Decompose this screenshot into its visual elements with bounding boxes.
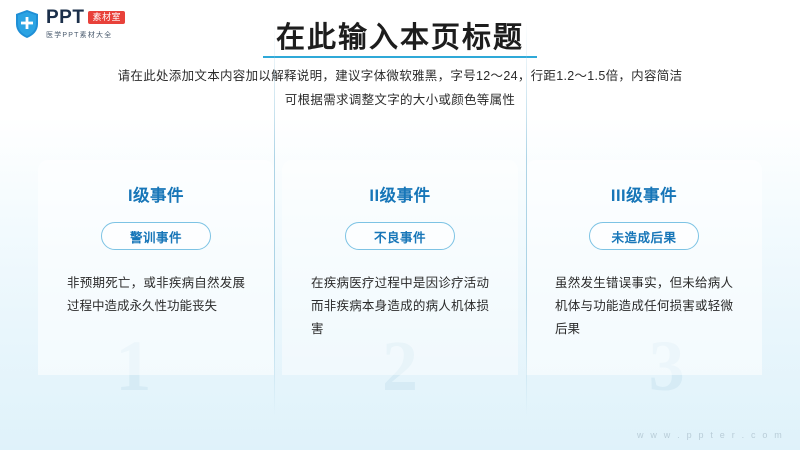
page-subtitle: 请在此处添加文本内容加以解释说明，建议字体微软雅黑，字号12～24，行距1.2～… (0, 64, 800, 112)
cards-row: I级事件 警训事件 非预期死亡，或非疾病自然发展过程中造成永久性功能丧失 II级… (38, 160, 762, 375)
subtitle-line-1: 请在此处添加文本内容加以解释说明，建议字体微软雅黑，字号12～24，行距1.2～… (0, 64, 800, 88)
card-3-title: III级事件 (526, 182, 762, 206)
card-divider-2 (526, 20, 527, 416)
slide-canvas: PPT 素材室 医学PPT素材大全 在此输入本页标题 请在此处添加文本内容加以解… (0, 0, 800, 450)
card-level-2[interactable]: II级事件 不良事件 在疾病医疗过程中是因诊疗活动而非疾病本身造成的病人机体损害 (282, 160, 518, 375)
card-3-pill: 未造成后果 (589, 222, 699, 250)
card-level-1[interactable]: I级事件 警训事件 非预期死亡，或非疾病自然发展过程中造成永久性功能丧失 (38, 160, 274, 375)
card-2-pill: 不良事件 (345, 222, 455, 250)
card-1-pill: 警训事件 (101, 222, 211, 250)
card-1-body: 非预期死亡，或非疾病自然发展过程中造成永久性功能丧失 (67, 272, 245, 318)
card-divider-1 (274, 20, 275, 416)
title-underline (263, 56, 537, 58)
subtitle-line-2: 可根据需求调整文字的大小或颜色等属性 (0, 88, 800, 112)
card-level-3[interactable]: III级事件 未造成后果 虽然发生错误事实，但未给病人机体与功能造成任何损害或轻… (526, 160, 762, 375)
page-title: 在此输入本页标题 (0, 14, 800, 56)
footer-url: w w w . p p t e r . c o m (637, 430, 784, 440)
card-2-body: 在疾病医疗过程中是因诊疗活动而非疾病本身造成的病人机体损害 (311, 272, 489, 341)
card-1-title: I级事件 (38, 182, 274, 206)
card-2-title: II级事件 (282, 182, 518, 206)
card-3-body: 虽然发生错误事实，但未给病人机体与功能造成任何损害或轻微后果 (555, 272, 733, 341)
